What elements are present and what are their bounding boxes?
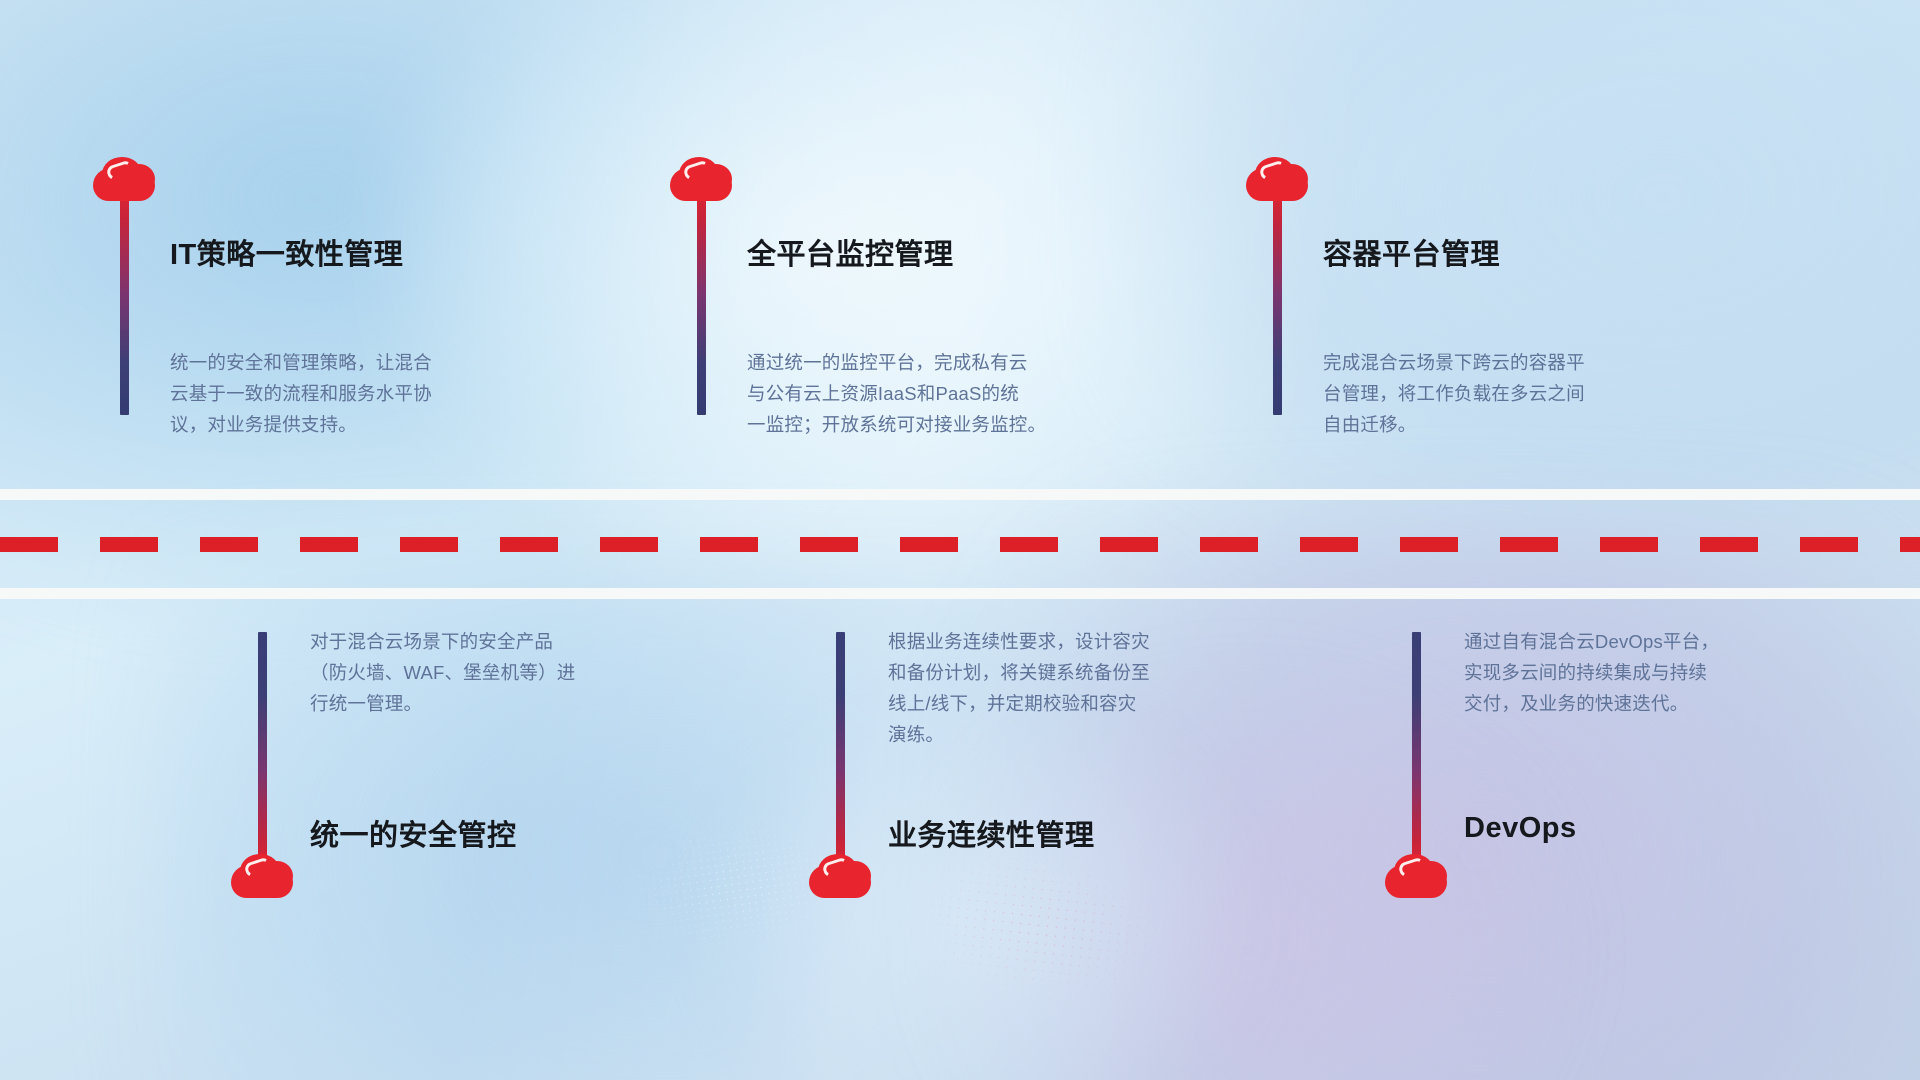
card-title: IT策略一致性管理 [170, 231, 403, 273]
connector-bar [258, 632, 267, 872]
cloud-icon [1246, 157, 1308, 201]
card-body: 通过统一的监控平台，完成私有云 与公有云上资源IaaS和PaaS的统 一监控；开… [747, 347, 1127, 440]
connector-bar [1412, 632, 1421, 872]
cloud-icon [1385, 854, 1447, 898]
card-body: 统一的安全和管理策略，让混合 云基于一致的流程和服务水平协 议，对业务提供支持。 [170, 347, 550, 440]
cloud-icon [93, 157, 155, 201]
road-band-top [0, 489, 1920, 500]
card-body: 对于混合云场景下的安全产品 （防火墙、WAF、堡垒机等）进 行统一管理。 [310, 626, 690, 719]
connector-bar [836, 632, 845, 872]
connector-bar [120, 185, 129, 415]
infographic-canvas: IT策略一致性管理 统一的安全和管理策略，让混合 云基于一致的流程和服务水平协 … [0, 0, 1920, 1080]
card-body: 根据业务连续性要求，设计容灾 和备份计划，将关键系统备份至 线上/线下，并定期校… [888, 626, 1268, 750]
card-title: 全平台监控管理 [747, 231, 954, 273]
card-body: 完成混合云场景下跨云的容器平 台管理，将工作负载在多云之间 自由迁移。 [1323, 347, 1703, 440]
road-band-bottom [0, 588, 1920, 599]
card-body: 通过自有混合云DevOps平台， 实现多云间的持续集成与持续 交付，及业务的快速… [1464, 626, 1844, 719]
cloud-icon [670, 157, 732, 201]
card-title: 容器平台管理 [1323, 231, 1500, 273]
card-title: DevOps [1464, 812, 1577, 845]
card-title: 统一的安全管控 [310, 812, 517, 854]
road-divider [0, 489, 1920, 599]
road-dashed-line [0, 537, 1920, 552]
connector-bar [1273, 185, 1282, 415]
cloud-icon [809, 854, 871, 898]
card-title: 业务连续性管理 [888, 812, 1095, 854]
cloud-icon [231, 854, 293, 898]
connector-bar [697, 185, 706, 415]
